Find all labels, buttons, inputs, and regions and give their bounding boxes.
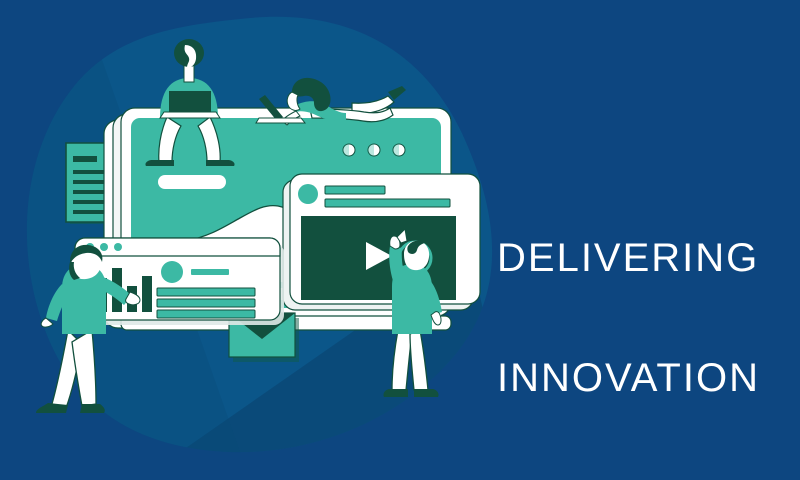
headline-line-2: INNOVATION bbox=[497, 348, 787, 408]
dashboard-avatar bbox=[161, 261, 183, 283]
video-text-bar-1 bbox=[325, 186, 385, 194]
browser-dots bbox=[343, 144, 405, 156]
dashboard-row-2 bbox=[157, 299, 255, 307]
headline-line-1: DELIVERING bbox=[497, 228, 787, 288]
dashboard-row-1 bbox=[157, 288, 255, 296]
dashboard-row-3 bbox=[157, 310, 255, 318]
video-text-bar-2 bbox=[325, 199, 450, 207]
video-card bbox=[283, 174, 480, 310]
poster-canvas: DELIVERING INNOVATION bbox=[0, 0, 800, 480]
video-avatar bbox=[298, 184, 318, 204]
page-title: DELIVERING INNOVATION bbox=[497, 168, 787, 468]
dashboard-title-bar bbox=[191, 269, 229, 275]
screen-pill-top bbox=[158, 175, 226, 189]
